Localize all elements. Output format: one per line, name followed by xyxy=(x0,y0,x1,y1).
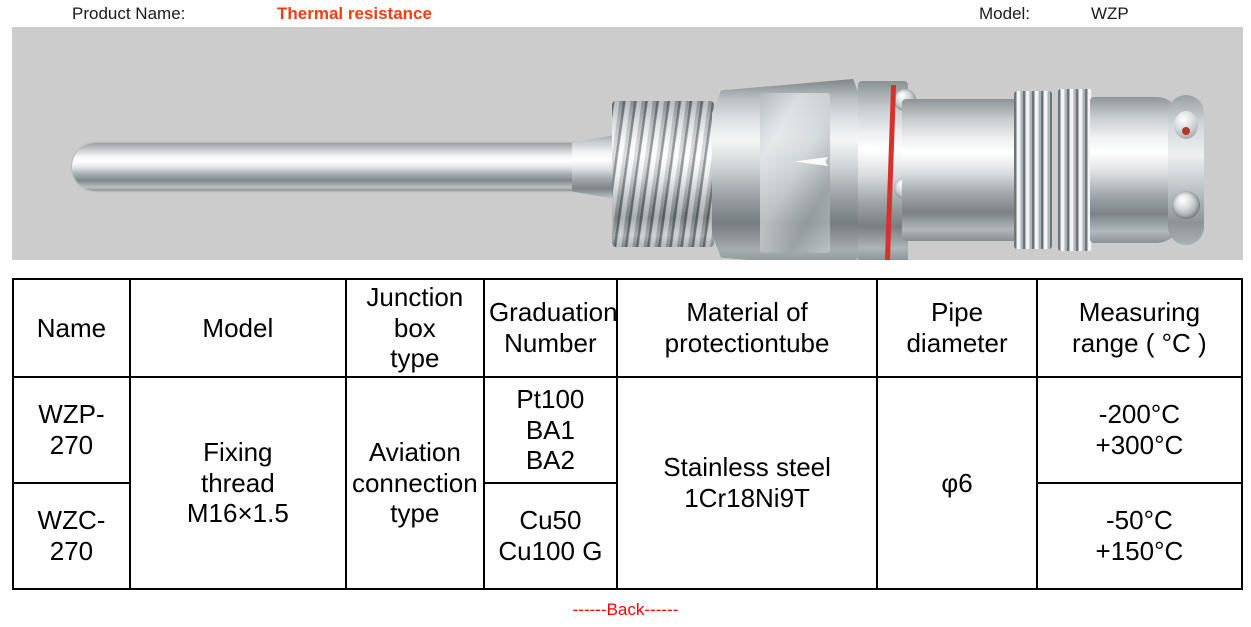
range-wzp-line2: +300°C xyxy=(1096,430,1184,460)
model-line2: thread xyxy=(201,468,275,498)
cell-name-wzp: WZP- 270 xyxy=(13,377,130,483)
header-material-line1: Material of xyxy=(686,297,807,327)
header-measuring-range-line2: range ( °C ) xyxy=(1072,328,1207,358)
graduation-wzc-line2: Cu100 G xyxy=(498,536,602,566)
range-wzp-line1: -200°C xyxy=(1099,399,1180,429)
table-header-row: Name Model Junction box type Graduation … xyxy=(13,279,1242,377)
graduation-wzp-line1: Pt100 BA1 xyxy=(516,384,584,445)
graduation-wzc-line1: Cu50 xyxy=(519,505,581,535)
model-line1: Fixing xyxy=(203,437,272,467)
connector-knurled-ring-2 xyxy=(1058,89,1092,251)
junction-box-line1: Aviation xyxy=(369,437,461,467)
model-line3: M16×1.5 xyxy=(187,498,289,528)
header-cell-graduation-number: Graduation Number xyxy=(484,279,617,377)
cell-junction-box-merged: Aviation connection type xyxy=(346,377,484,589)
header-pipe-diameter-line2: diameter xyxy=(906,328,1007,358)
header-junction-box-line1: Junction box xyxy=(366,282,463,343)
header-cell-material: Material of protectiontube xyxy=(617,279,877,377)
name-wzc-line2: 270 xyxy=(50,536,93,566)
header-cell-pipe-diameter: Pipe diameter xyxy=(877,279,1036,377)
cell-model-merged: Fixing thread M16×1.5 xyxy=(130,377,346,589)
cell-graduation-wzp: Pt100 BA1 BA2 xyxy=(484,377,617,483)
specification-table: Name Model Junction box type Graduation … xyxy=(12,278,1243,590)
material-line1: Stainless steel xyxy=(663,452,831,482)
cell-range-wzc: -50°C +150°C xyxy=(1037,483,1242,589)
table-row: WZP- 270 Fixing thread M16×1.5 Aviation … xyxy=(13,377,1242,483)
header-graduation-line2: Number xyxy=(504,328,596,358)
model-value: WZP xyxy=(1091,0,1129,27)
name-wzc-line1: WZC- xyxy=(38,505,106,535)
junction-box-line2: connection xyxy=(352,468,478,498)
product-name-label: Product Name: xyxy=(72,0,185,27)
probe-thread-grooves xyxy=(612,101,714,247)
header-junction-box-line2: type xyxy=(390,343,439,373)
probe-hex-nut-face xyxy=(760,93,830,253)
name-wzp-line2: 270 xyxy=(50,430,93,460)
header-material-line2: protectiontube xyxy=(665,328,830,358)
thermal-probe-illustration xyxy=(12,27,1243,260)
cell-material-merged: Stainless steel 1Cr18Ni9T xyxy=(617,377,877,589)
header-graduation-line1: Graduation xyxy=(489,297,618,327)
back-link[interactable]: ------Back------ xyxy=(0,600,1251,620)
header-pipe-diameter-line1: Pipe xyxy=(931,297,983,327)
connector-knurled-ring-1 xyxy=(1014,91,1052,249)
range-wzc-line2: +150°C xyxy=(1096,536,1184,566)
header-cell-name: Name xyxy=(13,279,130,377)
connector-pin-dot xyxy=(1182,127,1190,135)
graduation-wzp-line2: BA2 xyxy=(526,445,575,475)
header-cell-junction-box-type: Junction box type xyxy=(346,279,484,377)
header-measuring-range-line1: Measuring xyxy=(1079,297,1200,327)
page-header: Product Name: Thermal resistance Model: … xyxy=(0,0,1251,27)
probe-sheath xyxy=(72,143,602,191)
range-wzc-line1: -50°C xyxy=(1106,505,1173,535)
header-cell-model: Model xyxy=(130,279,346,377)
material-line2: 1Cr18Ni9T xyxy=(684,483,810,513)
cell-name-wzc: WZC- 270 xyxy=(13,483,130,589)
model-label: Model: xyxy=(979,0,1030,27)
header-cell-measuring-range: Measuring range ( °C ) xyxy=(1037,279,1242,377)
product-name-value: Thermal resistance xyxy=(277,0,432,27)
cell-graduation-wzc: Cu50 Cu100 G xyxy=(484,483,617,589)
product-photo xyxy=(12,27,1243,260)
connector-barrel xyxy=(902,99,1022,241)
connector-pin-bottom xyxy=(1172,191,1200,219)
cell-pipe-diameter-merged: φ6 xyxy=(877,377,1036,589)
name-wzp-line1: WZP- xyxy=(38,399,104,429)
cell-range-wzp: -200°C +300°C xyxy=(1037,377,1242,483)
junction-box-line3: type xyxy=(390,498,439,528)
